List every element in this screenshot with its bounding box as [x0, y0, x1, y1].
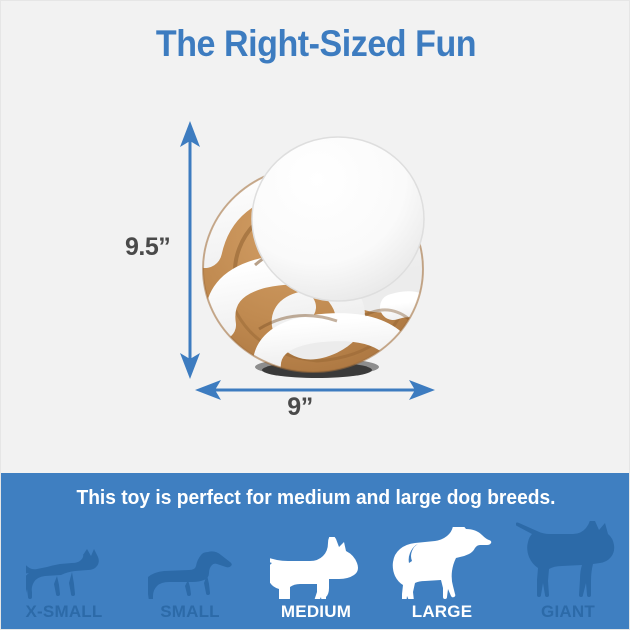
size-item-small[interactable]: SMALL	[127, 517, 253, 630]
size-label-giant: GIANT	[541, 602, 595, 622]
size-item-retriever[interactable]: LARGE	[379, 517, 505, 630]
page-title: The Right-Sized Fun	[26, 23, 606, 65]
product-size-panel: The Right-Sized Fun	[1, 1, 630, 473]
width-dimension-label: 9”	[1, 393, 630, 422]
height-dimension-arrow	[171, 119, 209, 381]
size-label-medium: MEDIUM	[281, 602, 351, 622]
dog-great-dane-icon	[516, 521, 620, 599]
height-dimension-label: 9.5”	[125, 233, 170, 262]
size-label-large: LARGE	[412, 602, 473, 622]
size-item-giant[interactable]: GIANT	[505, 517, 630, 630]
width-dimension-value: 9”	[287, 393, 312, 421]
dog-bull-terrier-icon	[270, 521, 362, 599]
banner-caption: This toy is perfect for medium and large…	[14, 487, 619, 510]
dog-size-scale: X-SMALL SMALL MEDIUM	[1, 517, 630, 630]
size-label-small: SMALL	[160, 602, 220, 622]
dog-dachshund-icon	[148, 521, 232, 599]
size-item-medium[interactable]: MEDIUM	[253, 517, 379, 630]
product-image-cinnamon-roll-toy	[197, 119, 441, 381]
breed-size-banner: This toy is perfect for medium and large…	[1, 473, 630, 630]
size-item-x-small[interactable]: X-SMALL	[1, 517, 127, 630]
dog-retriever-icon	[392, 521, 492, 599]
size-label-x-small: X-SMALL	[26, 602, 103, 622]
dog-chihuahua-icon	[26, 521, 102, 599]
product-size-infographic: The Right-Sized Fun	[0, 0, 630, 630]
